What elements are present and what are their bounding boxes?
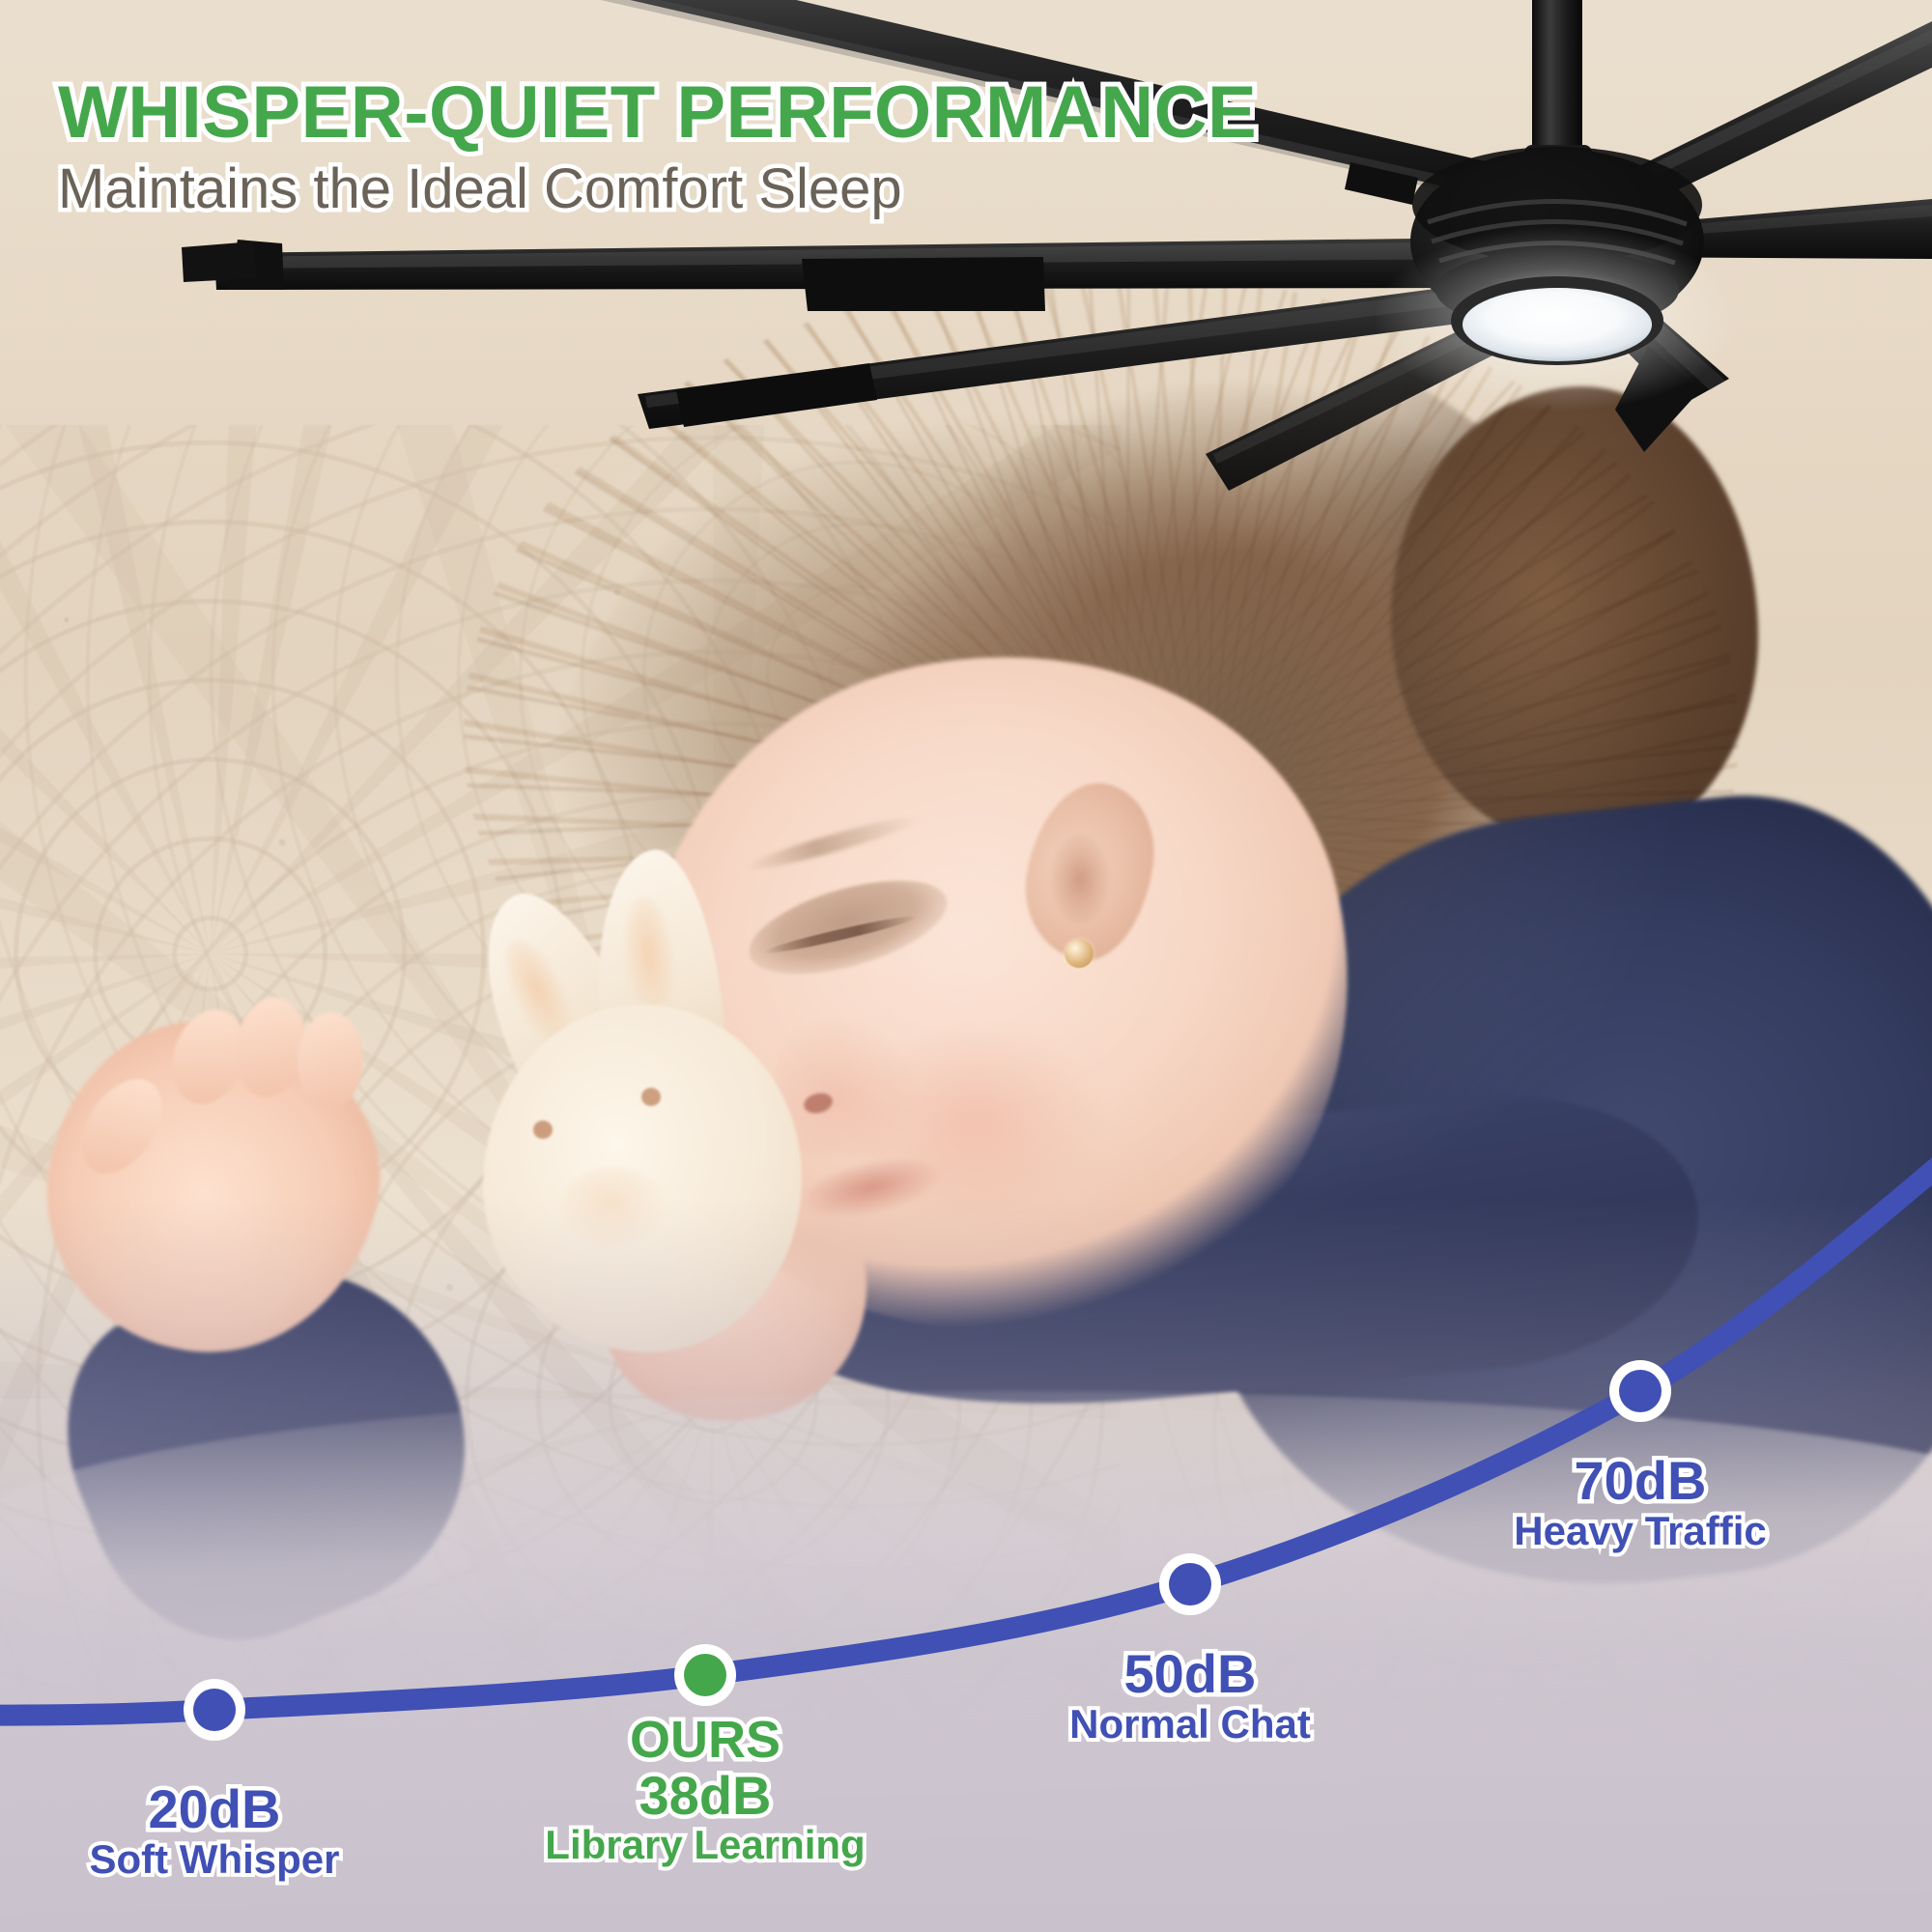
- marketing-image: WHISPER-QUIET PERFORMANCE Maintains the …: [0, 0, 1932, 1932]
- noise-label-value: 70dB: [1514, 1453, 1766, 1509]
- noise-label-library-learning: OURS38dBLibrary Learning: [545, 1714, 865, 1867]
- noise-label-value: 50dB: [1069, 1646, 1311, 1702]
- noise-label-heavy-traffic: 70dBHeavy Traffic: [1514, 1453, 1766, 1552]
- noise-point-soft-whisper: [193, 1689, 236, 1731]
- noise-label-ours-tag: OURS: [545, 1714, 865, 1768]
- noise-label-normal-chat: 50dBNormal Chat: [1069, 1646, 1311, 1746]
- noise-label-name: Normal Chat: [1069, 1702, 1311, 1746]
- noise-curve-line: [0, 1140, 1932, 1716]
- noise-point-normal-chat: [1169, 1563, 1211, 1605]
- noise-label-soft-whisper: 20dBSoft Whisper: [90, 1781, 340, 1881]
- noise-curve-points: [184, 1360, 1671, 1741]
- noise-point-heavy-traffic: [1619, 1370, 1662, 1412]
- noise-label-name: Library Learning: [545, 1823, 865, 1866]
- noise-point-library-learning: [684, 1654, 726, 1696]
- noise-label-name: Soft Whisper: [90, 1837, 340, 1881]
- noise-label-name: Heavy Traffic: [1514, 1509, 1766, 1552]
- noise-level-curve: [0, 0, 1932, 1932]
- noise-label-value: 20dB: [90, 1781, 340, 1837]
- noise-label-value: 38dB: [545, 1768, 865, 1824]
